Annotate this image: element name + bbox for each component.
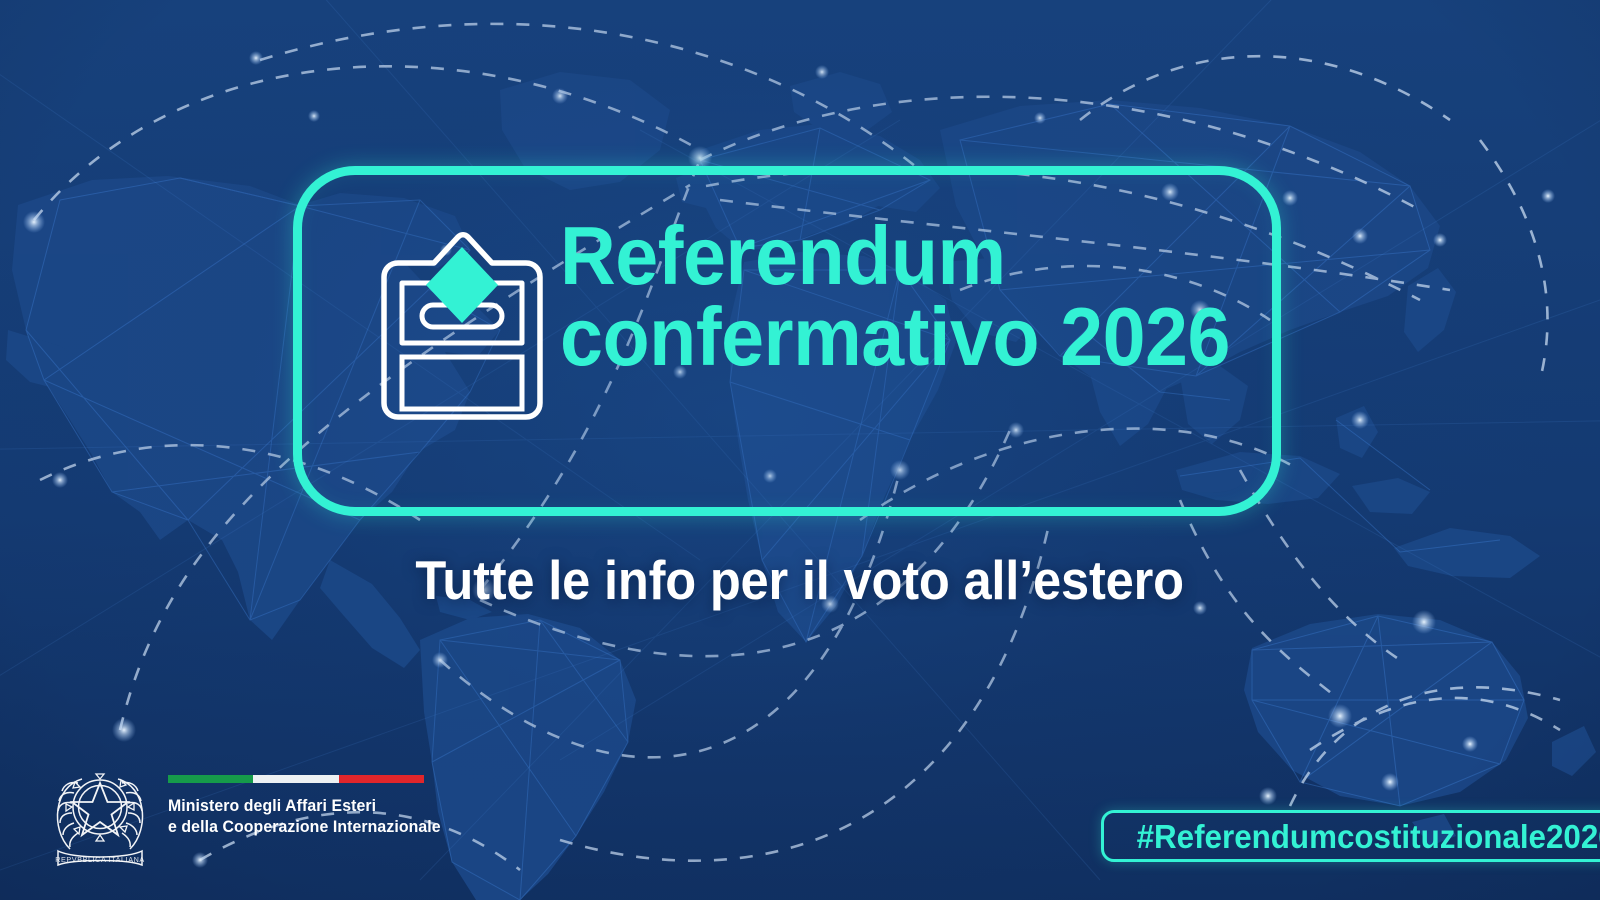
hashtag-badge[interactable]: #Referendumcostituzionale2026 xyxy=(1101,810,1600,862)
title-line-1: Referendum xyxy=(560,215,1211,296)
title-line-2: confermativo 2026 xyxy=(560,296,1211,377)
ballot-box-icon xyxy=(372,211,552,431)
ministry-lockup: REPVBBLICA ITALIANA Ministero degli Affa… xyxy=(48,755,452,873)
subtitle-label: Tutte le info per il voto all’estero xyxy=(416,549,1184,611)
referendum-poster: Referendum confermativo 2026 Tutte le in… xyxy=(0,0,1600,900)
ministry-name-line-1: Ministero degli Affari Esteri xyxy=(168,796,441,817)
hashtag-label: #Referendumcostituzionale2026 xyxy=(1137,820,1600,853)
ministry-text-block: Ministero degli Affari Esteri e della Co… xyxy=(168,755,452,838)
italian-flag-bar xyxy=(168,775,424,783)
flag-stripe-white xyxy=(253,775,338,783)
emblem-of-italy-icon: REPVBBLICA ITALIANA xyxy=(48,755,152,873)
ministry-name-line-2: e della Cooperazione Internazionale xyxy=(168,817,441,838)
ministry-name: Ministero degli Affari Esteri e della Co… xyxy=(168,796,452,838)
emblem-ribbon-text: REPVBBLICA ITALIANA xyxy=(55,855,145,864)
subtitle: Tutte le info per il voto all’estero xyxy=(0,549,1600,611)
title-frame: Referendum confermativo 2026 xyxy=(293,166,1281,516)
title-text: Referendum confermativo 2026 xyxy=(560,215,1260,377)
flag-stripe-red xyxy=(339,775,424,783)
flag-stripe-green xyxy=(168,775,253,783)
